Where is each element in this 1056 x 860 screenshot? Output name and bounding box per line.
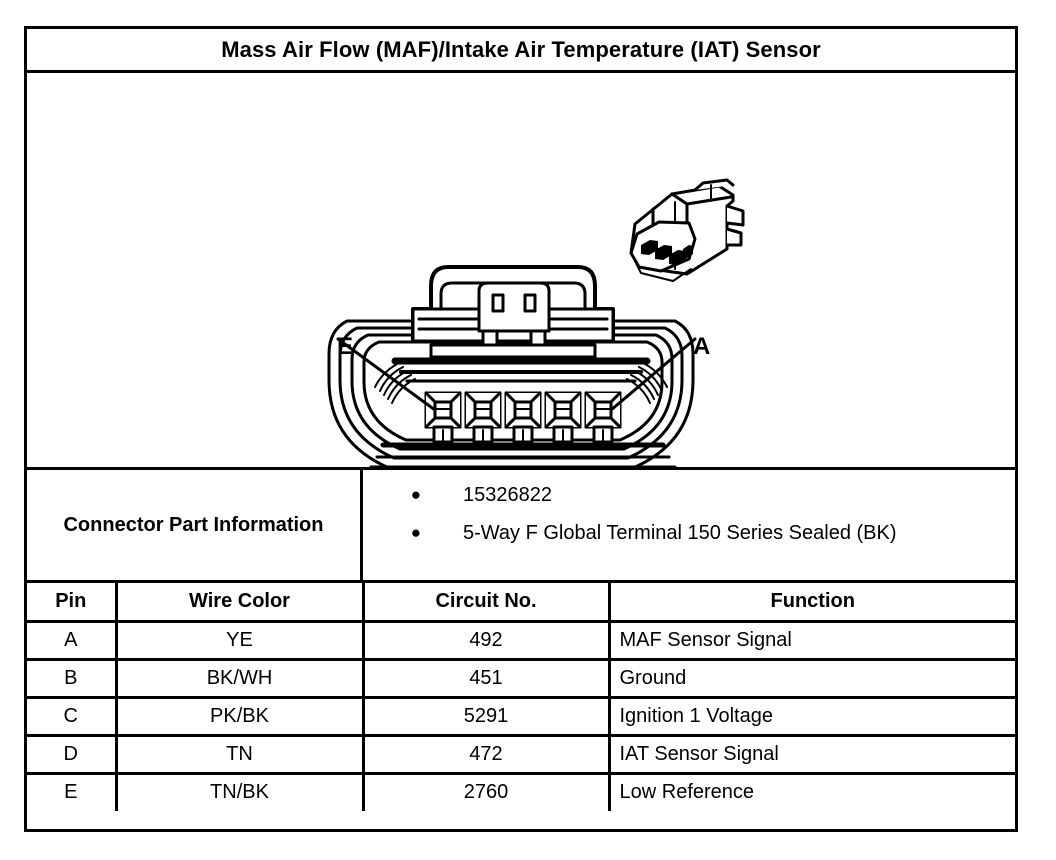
bullet-icon: ● [363, 482, 421, 508]
cell-wire-color: YE [116, 621, 363, 659]
bullet-icon: ● [363, 520, 421, 546]
connector-part-information-label: Connector Part Information [63, 514, 323, 537]
column-header-circuit-no: Circuit No. [363, 583, 609, 621]
cell-pin: B [27, 659, 116, 697]
pin-callout-a: A [693, 335, 710, 359]
table-row: B BK/WH 451 Ground [27, 659, 1015, 697]
cell-pin: D [27, 735, 116, 773]
cell-circuit-no: 472 [363, 735, 609, 773]
cell-circuit-no: 451 [363, 659, 609, 697]
cell-pin: E [27, 773, 116, 811]
list-item: ● 5-Way F Global Terminal 150 Series Sea… [363, 520, 1015, 558]
connector-part-information-list: ● 15326822 ● 5-Way F Global Terminal 150… [363, 470, 1015, 580]
table-row: A YE 492 MAF Sensor Signal [27, 621, 1015, 659]
cell-wire-color: TN [116, 735, 363, 773]
connector-face-view [329, 267, 693, 467]
table-row: E TN/BK 2760 Low Reference [27, 773, 1015, 811]
connector-figure: E A [27, 73, 1015, 470]
cell-function: Low Reference [609, 773, 1015, 811]
column-header-wire-color: Wire Color [116, 583, 363, 621]
cell-wire-color: BK/WH [116, 659, 363, 697]
connector-part-information-row: Connector Part Information ● 15326822 ● … [27, 470, 1015, 583]
column-header-pin: Pin [27, 583, 116, 621]
cell-wire-color: PK/BK [116, 697, 363, 735]
cell-function: Ground [609, 659, 1015, 697]
diagram-sheet: Mass Air Flow (MAF)/Intake Air Temperatu… [24, 26, 1018, 832]
column-header-function: Function [609, 583, 1015, 621]
connector-part-number: 15326822 [421, 482, 552, 508]
sheet-title-row: Mass Air Flow (MAF)/Intake Air Temperatu… [27, 29, 1015, 73]
cell-pin: A [27, 621, 116, 659]
list-item: ● 15326822 [363, 482, 1015, 520]
cell-pin: C [27, 697, 116, 735]
table-header-row: Pin Wire Color Circuit No. Function [27, 583, 1015, 621]
page-title: Mass Air Flow (MAF)/Intake Air Temperatu… [221, 37, 821, 63]
table-row: D TN 472 IAT Sensor Signal [27, 735, 1015, 773]
pin-callout-e: E [337, 335, 353, 359]
connector-perspective-view [631, 180, 743, 281]
cell-circuit-no: 492 [363, 621, 609, 659]
connector-description: 5-Way F Global Terminal 150 Series Seale… [421, 520, 897, 546]
cell-function: Ignition 1 Voltage [609, 697, 1015, 735]
pin-table: Pin Wire Color Circuit No. Function A YE… [27, 583, 1015, 811]
cell-function: MAF Sensor Signal [609, 621, 1015, 659]
cell-function: IAT Sensor Signal [609, 735, 1015, 773]
table-row: C PK/BK 5291 Ignition 1 Voltage [27, 697, 1015, 735]
connector-illustration [27, 73, 1015, 467]
cell-circuit-no: 5291 [363, 697, 609, 735]
connector-part-information-label-cell: Connector Part Information [27, 470, 363, 580]
cell-wire-color: TN/BK [116, 773, 363, 811]
cell-circuit-no: 2760 [363, 773, 609, 811]
